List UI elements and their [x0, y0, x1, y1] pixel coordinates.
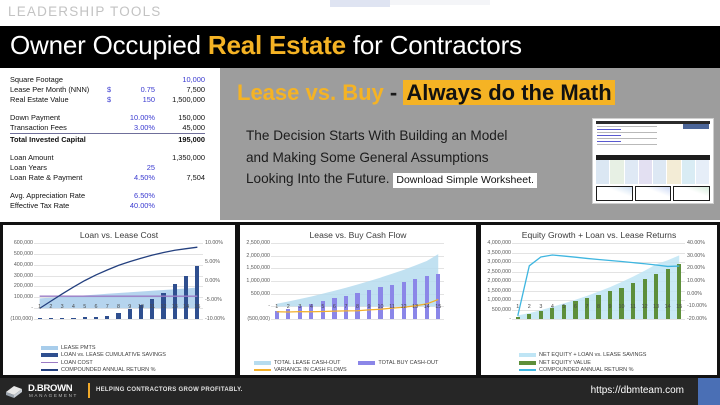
legend-swatch-icon: [41, 369, 58, 371]
chart-equity-growth-returns: Equity Growth + Loan vs. Lease Returns 4…: [481, 225, 717, 375]
row-symbol: [107, 112, 121, 122]
x-tick: 11: [148, 304, 157, 310]
ytick: 2,500,000: [246, 240, 270, 246]
description-block: The Decision Starts With Building an Mod…: [246, 125, 591, 190]
x-tick: 14: [422, 304, 431, 310]
chart1-x-axis: 123456789101112131415: [34, 304, 203, 310]
chart2-x-axis: 123456789101112131415: [271, 304, 444, 310]
row-rate: [121, 74, 155, 84]
x-tick: 9: [365, 304, 374, 310]
row-symbol: [107, 173, 121, 183]
ytick: 200,000: [14, 283, 33, 289]
headline-yellow: Lease vs. Buy: [237, 80, 384, 105]
chart2-legend: TOTAL LEASE CASH-OUT TOTAL BUY CASH-OUT …: [240, 358, 476, 373]
title-post: for Contractors: [346, 30, 522, 60]
x-tick: 13: [652, 304, 661, 310]
row-symbol: [107, 201, 121, 211]
headline-boxed: Always do the Math: [403, 80, 614, 105]
x-tick: 10: [376, 304, 385, 310]
x-tick: 3: [536, 304, 545, 310]
x-tick: 8: [594, 304, 603, 310]
ytick: 600,000: [14, 240, 33, 246]
table-row: Effective Tax Rate 40.00%: [10, 201, 205, 211]
x-tick: 1: [513, 304, 522, 310]
row-rate: 10.00%: [121, 112, 155, 122]
legend-swatch-icon: [41, 346, 58, 350]
ytick: (100,000): [10, 316, 33, 322]
x-tick: 4: [69, 304, 78, 310]
chart3-legend: NET EQUITY + LOAN vs. LEASE SAVINGS NET …: [481, 351, 717, 373]
row-value: 195,000: [155, 133, 205, 144]
legend-item: NET EQUITY + LOAN vs. LEASE SAVINGS: [481, 352, 717, 358]
chart1-y-axis-left: 600,000 500,000 400,000 300,000 200,000 …: [3, 243, 33, 319]
title-highlight: Real Estate: [208, 30, 346, 60]
legend-swatch-icon: [519, 361, 536, 365]
thumb-mini-charts: [596, 186, 710, 201]
row-value: [155, 201, 205, 211]
x-tick: 4: [548, 304, 557, 310]
legend-label: LOAN vs. LEASE CUMULATIVE SAVINGS: [61, 352, 166, 358]
legend-label: COMPOUNDED ANNUAL RETURN %: [539, 367, 634, 373]
legend-label: LEASE PMTS: [61, 345, 96, 351]
row-label: Square Footage: [10, 74, 107, 84]
assumptions-tbody: Square Footage 10,000 Lease Per Month (N…: [10, 74, 205, 211]
table-spacer: [10, 183, 205, 190]
ytick-right: -10.00%: [687, 303, 707, 309]
x-tick: 2: [525, 304, 534, 310]
legend-label: TOTAL BUY CASH-OUT: [378, 360, 438, 366]
legend-label: NET EQUITY + LOAN vs. LEASE SAVINGS: [539, 352, 646, 358]
table-row: Loan Years 25: [10, 162, 205, 172]
row-rate: 4.50%: [121, 173, 155, 183]
ytick-right: 0.00%: [687, 291, 702, 297]
row-rate: 40.00%: [121, 201, 155, 211]
table-row: Loan Amount 1,350,000: [10, 152, 205, 162]
x-tick: 11: [629, 304, 638, 310]
row-value: 45,000: [155, 123, 205, 134]
chart3-title: Equity Growth + Loan vs. Lease Returns: [481, 225, 717, 240]
x-tick: 15: [193, 304, 202, 310]
ytick-right: 10.00%: [687, 278, 705, 284]
page-title: Owner Occupied Real Estate for Contracto…: [10, 30, 522, 61]
x-tick: 9: [125, 304, 134, 310]
x-tick: 7: [341, 304, 350, 310]
ytick-right: 30.00%: [687, 253, 705, 259]
description-line-3: Looking Into the Future.: [246, 171, 390, 186]
ytick: (500,000): [247, 316, 270, 322]
x-tick: 6: [91, 304, 100, 310]
table-row: Down Payment 10.00% 150,000: [10, 112, 205, 122]
x-tick: 14: [182, 304, 191, 310]
row-rate: 25: [121, 162, 155, 172]
row-value: [155, 162, 205, 172]
table-row: Real Estate Value $ 150 1,500,000: [10, 95, 205, 105]
x-tick: 15: [675, 304, 684, 310]
legend-swatch-icon: [519, 369, 536, 371]
chart1-y-axis-right: 10.00% 5.00% 0.00% -5.00% -10.00%: [203, 243, 235, 319]
chart3-y-axis-left: 4,000,000 3,500,000 3,000,000 2,500,000 …: [481, 243, 511, 319]
x-tick: 9: [606, 304, 615, 310]
row-value: [155, 190, 205, 200]
ytick: 2,000,000: [487, 278, 511, 284]
footer-tagline: HELPING CONTRACTORS GROW PROFITABLY.: [96, 387, 243, 393]
x-tick: 10: [617, 304, 626, 310]
title-bar: Owner Occupied Real Estate for Contracto…: [0, 26, 720, 68]
ytick-right: 10.00%: [205, 240, 223, 246]
x-tick: 3: [58, 304, 67, 310]
eyebrow-bar: LEADERSHIP TOOLS: [0, 0, 720, 26]
x-tick: 11: [388, 304, 397, 310]
legend-swatch-icon: [41, 362, 58, 364]
charts-row: Loan vs. Lease Cost 600,000 500,000 400,…: [0, 222, 720, 378]
chart-loan-vs-lease-cost: Loan vs. Lease Cost 600,000 500,000 400,…: [3, 225, 235, 375]
top-artifact-secondary-icon: [390, 0, 490, 5]
footer-bar: D.BROWN MANAGEMENT HELPING CONTRACTORS G…: [0, 378, 720, 405]
chart3-x-axis: 123456789101112131415: [512, 304, 685, 310]
worksheet-thumbnail[interactable]: [592, 118, 714, 204]
row-symbol: $: [107, 95, 121, 105]
table-row-total: Total Invested Capital 195,000: [10, 133, 205, 144]
ytick: 500,000: [14, 251, 33, 257]
x-tick: 6: [571, 304, 580, 310]
top-artifact-icon: [330, 0, 390, 7]
legend-swatch-icon: [254, 369, 271, 371]
row-symbol: [107, 123, 121, 134]
row-label: Down Payment: [10, 112, 107, 122]
ytick: 300,000: [14, 273, 33, 279]
legend-item: COMPOUNDED ANNUAL RETURN %: [3, 367, 235, 373]
row-label: Effective Tax Rate: [10, 201, 107, 211]
assumptions-panel: Square Footage 10,000 Lease Per Month (N…: [0, 68, 220, 220]
legend-swatch-icon: [254, 361, 271, 365]
ytick: 500,000: [251, 291, 270, 297]
x-tick: 3: [295, 304, 304, 310]
description-line-2: and Making Some General Assumptions: [246, 147, 591, 169]
row-value: 10,000: [155, 74, 205, 84]
x-tick: 12: [399, 304, 408, 310]
legend-swatch-icon: [519, 353, 536, 357]
legend-item: LOAN vs. LEASE CUMULATIVE SAVINGS: [3, 352, 235, 358]
chart3-y-axis-right: 40.00% 30.00% 20.00% 10.00% 0.00% -10.00…: [685, 243, 717, 319]
thumb-logo-icon: [683, 124, 709, 129]
ytick-right: 20.00%: [687, 265, 705, 271]
download-worksheet-button[interactable]: Download Simple Worksheet.: [393, 173, 537, 188]
row-rate: 0.75: [121, 84, 155, 94]
title-pre: Owner Occupied: [10, 30, 208, 60]
row-symbol: [107, 162, 121, 172]
row-rate: 6.50%: [121, 190, 155, 200]
x-tick: 12: [640, 304, 649, 310]
x-tick: 8: [114, 304, 123, 310]
x-tick: 1: [35, 304, 44, 310]
x-tick: 8: [353, 304, 362, 310]
row-label: Transaction Fees: [10, 123, 107, 134]
row-label: Loan Amount: [10, 152, 107, 162]
x-tick: 5: [80, 304, 89, 310]
row-rate: [121, 152, 155, 162]
row-value: 1,350,000: [155, 152, 205, 162]
ytick-right: -10.00%: [205, 316, 225, 322]
legend-item: TOTAL BUY CASH-OUT: [358, 360, 462, 366]
ytick-right: -20.00%: [687, 316, 707, 322]
x-tick: 6: [330, 304, 339, 310]
row-label: Lease Per Month (NNN): [10, 84, 107, 94]
ytick: 1,500,000: [487, 288, 511, 294]
ytick: 1,000,000: [246, 278, 270, 284]
table-row: Transaction Fees 3.00% 45,000: [10, 123, 205, 134]
row-rate: [121, 133, 155, 144]
ytick-right: 0.00%: [205, 278, 220, 284]
headline: Lease vs. Buy - Always do the Math: [237, 80, 615, 106]
row-value: 150,000: [155, 112, 205, 122]
table-spacer: [10, 145, 205, 152]
legend-label: NET EQUITY VALUE: [539, 360, 591, 366]
thumb-table-grid: [596, 160, 710, 184]
x-tick: 7: [103, 304, 112, 310]
row-rate: 3.00%: [121, 123, 155, 134]
legend-item: TOTAL LEASE CASH-OUT: [254, 360, 358, 366]
x-tick: 5: [559, 304, 568, 310]
ytick: -: [268, 303, 270, 309]
ytick: 1,500,000: [246, 265, 270, 271]
footer-divider: [88, 383, 90, 398]
legend-item: LEASE PMTS: [3, 345, 235, 351]
headline-dash: -: [384, 80, 404, 105]
legend-label: COMPOUNDED ANNUAL RETURN %: [61, 367, 156, 373]
logo-icon: [4, 383, 24, 400]
ytick: 100,000: [14, 294, 33, 300]
slide: LEADERSHIP TOOLS Owner Occupied Real Est…: [0, 0, 720, 405]
row-rate: 150: [121, 95, 155, 105]
description-line-1: The Decision Starts With Building an Mod…: [246, 125, 591, 147]
ytick: 4,000,000: [487, 240, 511, 246]
ytick-right: 40.00%: [687, 240, 705, 246]
legend-swatch-icon: [41, 353, 58, 357]
ytick: 400,000: [14, 262, 33, 268]
legend-label: TOTAL LEASE CASH-OUT: [274, 360, 341, 366]
x-tick: 13: [170, 304, 179, 310]
row-value: 1,500,000: [155, 95, 205, 105]
legend-item: VARIANCE IN CASH FLOWS: [254, 367, 358, 373]
legend-label: VARIANCE IN CASH FLOWS: [274, 367, 347, 373]
x-tick: 2: [284, 304, 293, 310]
row-label: Real Estate Value: [10, 95, 107, 105]
chart2-y-axis-left: 2,500,000 2,000,000 1,500,000 1,000,000 …: [240, 243, 270, 319]
footer-url[interactable]: https://dbmteam.com: [591, 385, 684, 396]
footer-accent-block: [698, 378, 720, 405]
row-symbol: $: [107, 84, 121, 94]
table-row: Avg. Appreciation Rate 6.50%: [10, 190, 205, 200]
chart1-legend: LEASE PMTS LOAN vs. LEASE CUMULATIVE SAV…: [3, 343, 235, 373]
row-label: Loan Years: [10, 162, 107, 172]
x-tick: 2: [46, 304, 55, 310]
ytick: 2,500,000: [487, 269, 511, 275]
x-tick: 13: [411, 304, 420, 310]
legend-item: NET EQUITY VALUE: [481, 360, 717, 366]
legend-label: LOAN COST: [61, 360, 93, 366]
footer-brand-sub: MANAGEMENT: [29, 393, 78, 398]
table-spacer: [10, 105, 205, 112]
row-value: 7,504: [155, 173, 205, 183]
x-tick: 14: [663, 304, 672, 310]
row-symbol: [107, 190, 121, 200]
x-tick: 1: [272, 304, 281, 310]
eyebrow-label: LEADERSHIP TOOLS: [8, 4, 162, 19]
ytick: -: [509, 316, 511, 322]
chart1-title: Loan vs. Lease Cost: [3, 225, 235, 240]
legend-item: COMPOUNDED ANNUAL RETURN %: [481, 367, 717, 373]
table-row: Loan Rate & Payment 4.50% 7,504: [10, 173, 205, 183]
x-tick: 10: [137, 304, 146, 310]
ytick: 1,000,000: [487, 297, 511, 303]
row-symbol: [107, 152, 121, 162]
row-symbol: [107, 133, 121, 144]
row-symbol: [107, 74, 121, 84]
row-value: 7,500: [155, 84, 205, 94]
x-tick: 12: [159, 304, 168, 310]
table-row: Lease Per Month (NNN) $ 0.75 7,500: [10, 84, 205, 94]
chart-lease-vs-buy-cash-flow: Lease vs. Buy Cash Flow 2,500,000 2,000,…: [240, 225, 476, 375]
ytick: -: [31, 305, 33, 311]
ytick: 500,000: [492, 307, 511, 313]
table-row: Square Footage 10,000: [10, 74, 205, 84]
chart2-title: Lease vs. Buy Cash Flow: [240, 225, 476, 240]
x-tick: 7: [582, 304, 591, 310]
assumptions-table: Square Footage 10,000 Lease Per Month (N…: [10, 74, 205, 211]
x-tick: 4: [307, 304, 316, 310]
legend-swatch-icon: [358, 361, 375, 365]
ytick: 3,500,000: [487, 250, 511, 256]
legend-item: LOAN COST: [3, 360, 235, 366]
row-label: Avg. Appreciation Rate: [10, 190, 107, 200]
ytick: 2,000,000: [246, 253, 270, 259]
ytick-right: -5.00%: [205, 297, 222, 303]
x-tick: 15: [434, 304, 443, 310]
ytick-right: 5.00%: [205, 259, 220, 265]
description-line-3-wrap: Looking Into the Future. Download Simple…: [246, 168, 591, 190]
x-tick: 5: [318, 304, 327, 310]
row-label: Loan Rate & Payment: [10, 173, 107, 183]
ytick: 3,000,000: [487, 259, 511, 265]
row-label: Total Invested Capital: [10, 133, 107, 144]
thumb-text-lines: [597, 126, 657, 151]
